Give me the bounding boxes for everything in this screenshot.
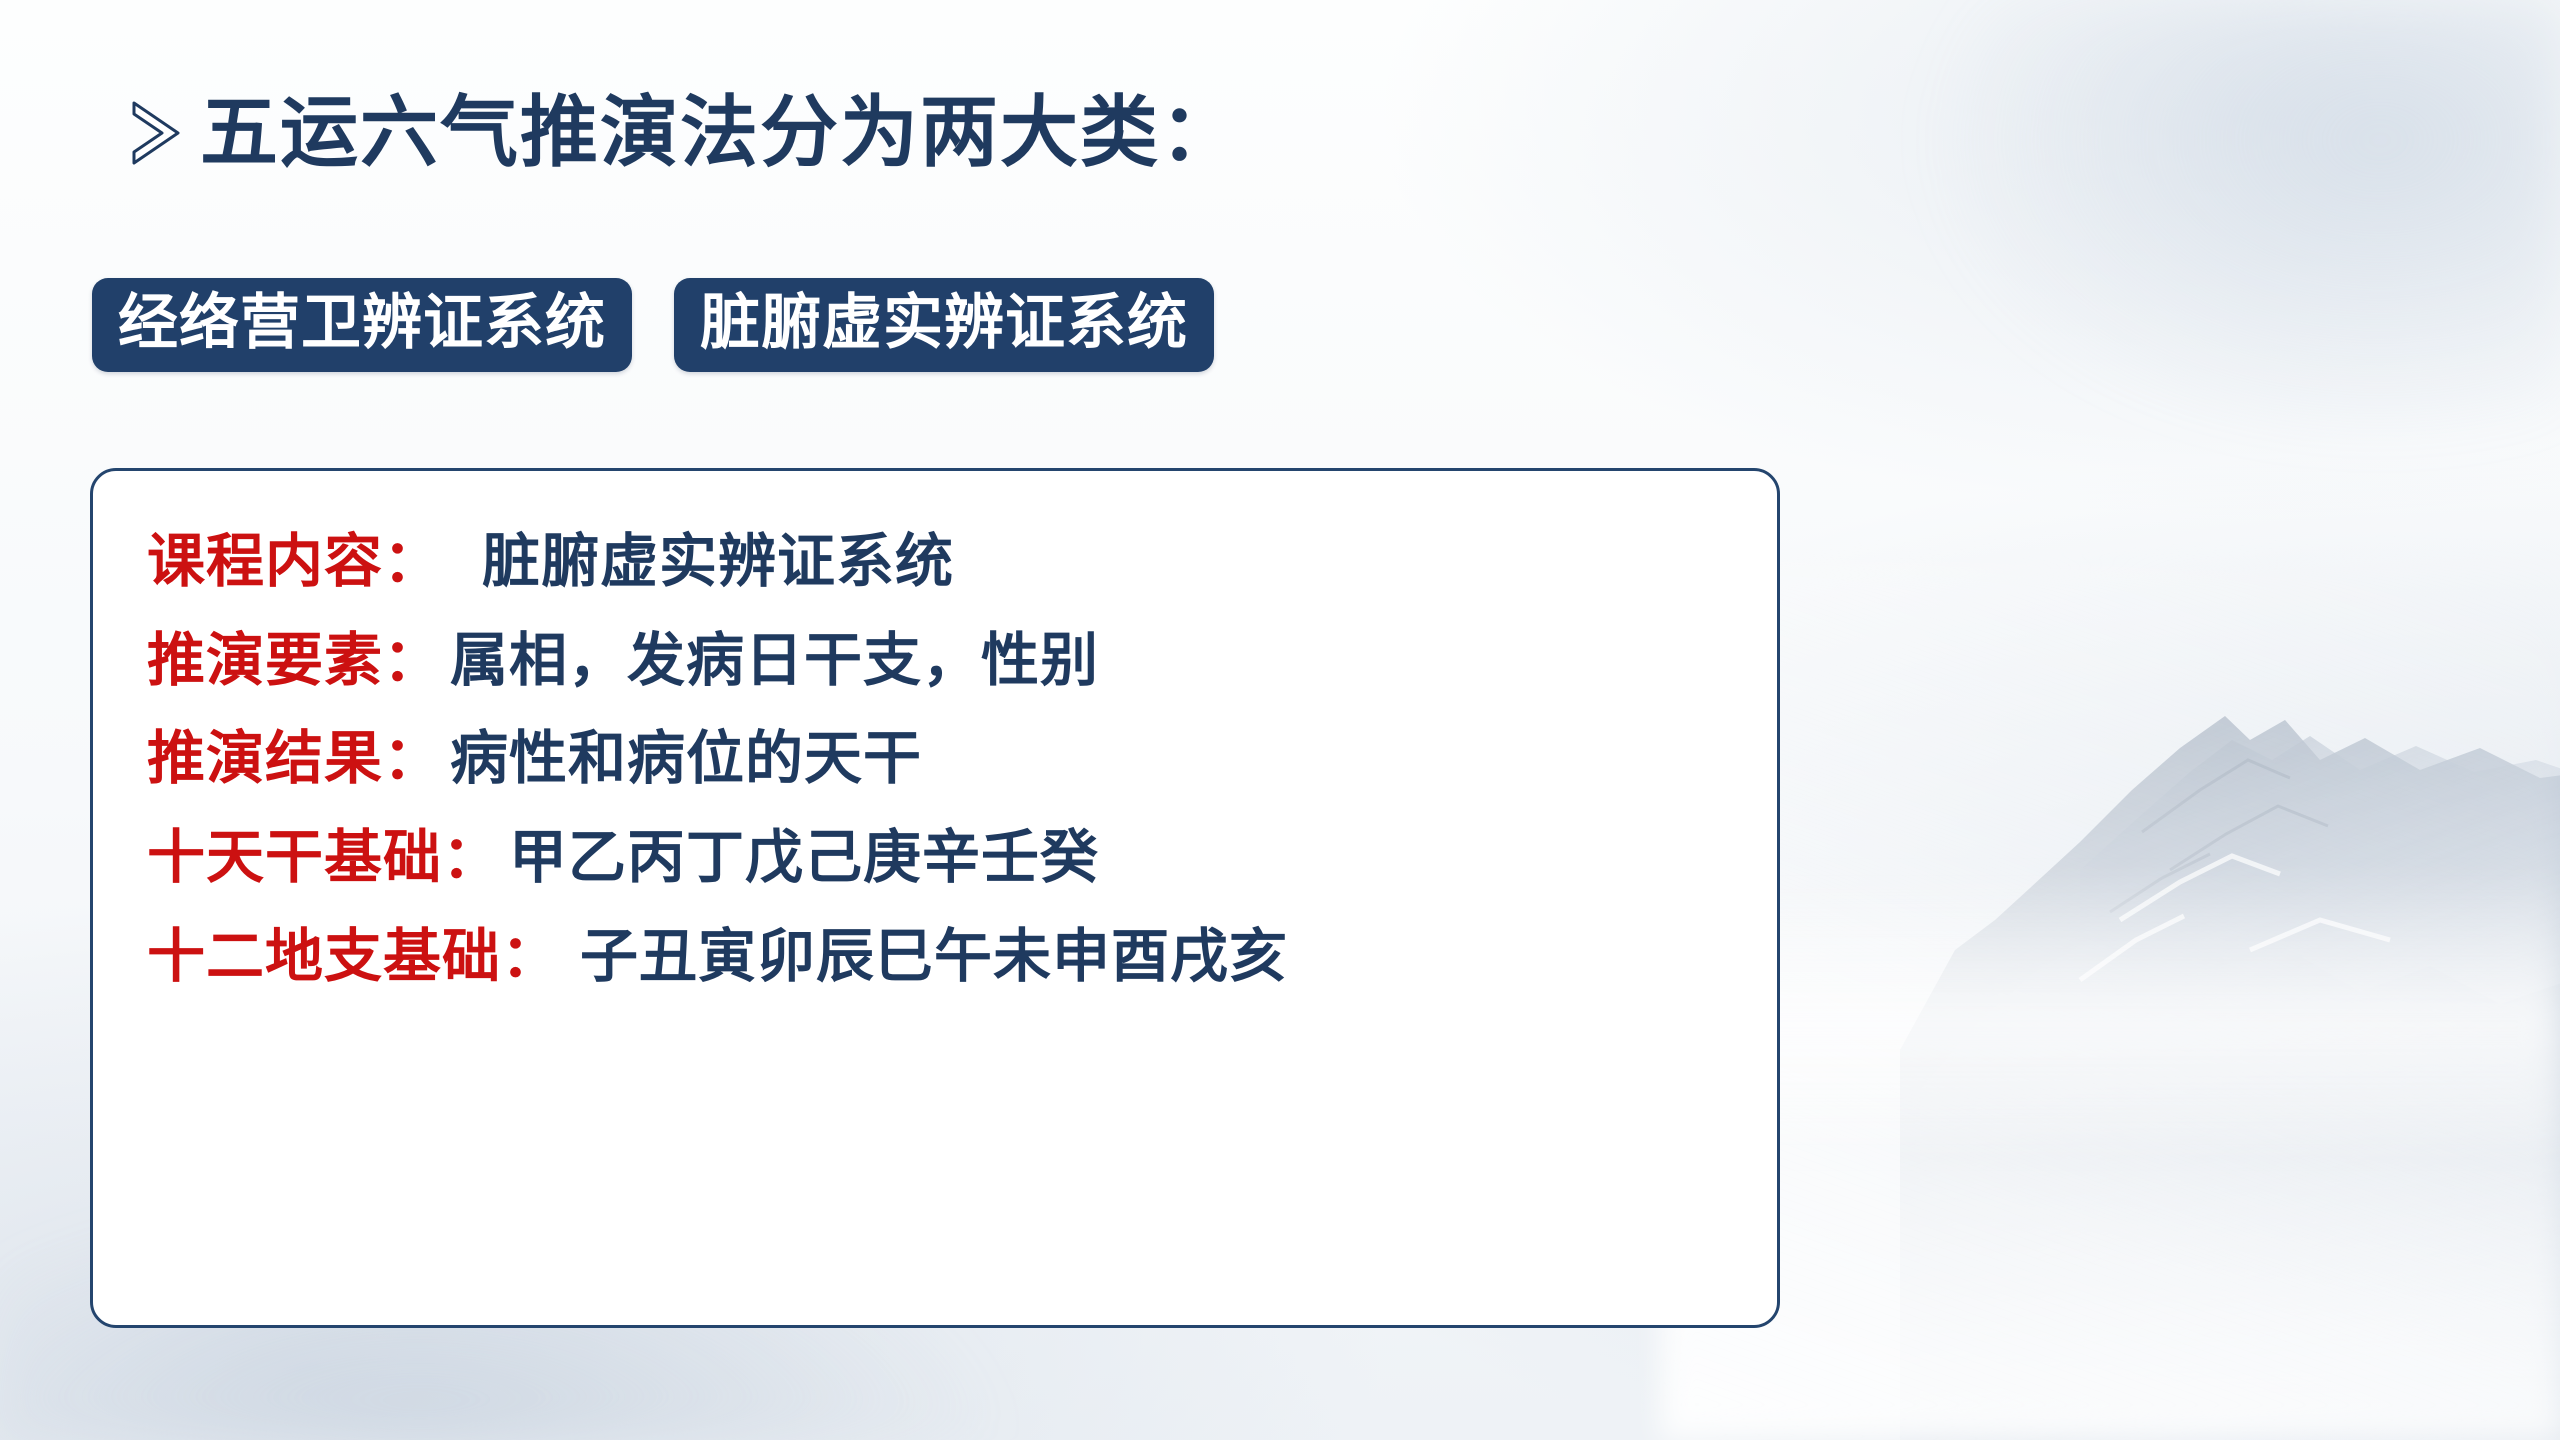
info-value: 子丑寅卯辰巳午未申酉戌亥 [580,926,1288,989]
info-value: 甲乙丙丁戊己庚辛壬癸 [509,827,1099,890]
slide-title: 五运六气推演法分为两大类： [128,92,1240,173]
info-value: 属相，发病日干支，性别 [450,630,1099,693]
arrow-bullet-icon [128,100,182,166]
info-value: 病性和病位的天干 [450,728,922,791]
info-row-earthly-branches: 十二地支基础： 子丑寅卯辰巳午未申酉戌亥 [147,926,1723,989]
category-badge-zangfu[interactable]: 脏腑虚实辨证系统 [674,278,1214,372]
info-row-heavenly-stems: 十天干基础： 甲乙丙丁戊己庚辛壬癸 [147,827,1723,890]
info-row-course-content: 课程内容： 脏腑虚实辨证系统 [147,531,1723,594]
slide-content: 五运六气推演法分为两大类： 经络营卫辨证系统 脏腑虚实辨证系统 课程内容： 脏腑… [0,0,2560,1440]
info-value: 脏腑虚实辨证系统 [482,531,954,594]
info-label: 推演结果： [147,728,442,791]
info-row-deduction-result: 推演结果： 病性和病位的天干 [147,728,1723,791]
category-badge-meridian[interactable]: 经络营卫辨证系统 [92,278,632,372]
course-info-box: 课程内容： 脏腑虚实辨证系统 推演要素： 属相，发病日干支，性别 推演结果： 病… [90,468,1780,1328]
info-row-deduction-factors: 推演要素： 属相，发病日干支，性别 [147,630,1723,693]
info-label: 推演要素： [147,630,442,693]
category-badge-row: 经络营卫辨证系统 脏腑虚实辨证系统 [92,278,1214,372]
info-label: 十天干基础： [147,827,501,890]
info-label: 课程内容： [147,531,442,594]
course-info-rows: 课程内容： 脏腑虚实辨证系统 推演要素： 属相，发病日干支，性别 推演结果： 病… [147,531,1723,988]
info-label: 十二地支基础： [147,926,560,989]
slide-canvas: 五运六气推演法分为两大类： 经络营卫辨证系统 脏腑虚实辨证系统 课程内容： 脏腑… [0,0,2560,1440]
page-title: 五运六气推演法分为两大类： [200,92,1240,173]
